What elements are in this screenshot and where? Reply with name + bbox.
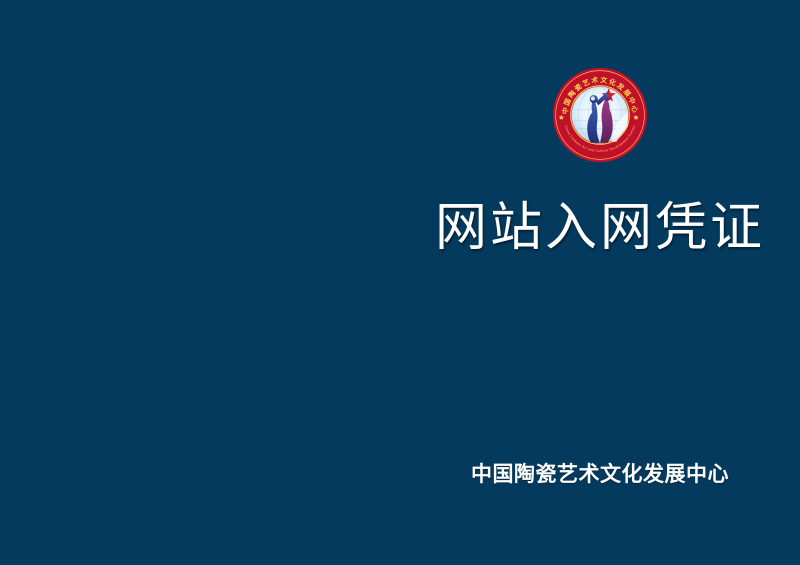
front-cover-panel: 中国陶瓷艺术文化发展中心 China Ceramic Art and Cultu… (400, 0, 800, 565)
certificate-cover-page: 中国陶瓷艺术文化发展中心 China Ceramic Art and Cultu… (0, 0, 800, 565)
certificate-title: 网站入网凭证 (400, 200, 800, 258)
issuing-organization-name: 中国陶瓷艺术文化发展中心 (400, 458, 800, 488)
organization-seal-logo: 中国陶瓷艺术文化发展中心 China Ceramic Art and Cultu… (552, 67, 648, 163)
seal-icon: 中国陶瓷艺术文化发展中心 China Ceramic Art and Cultu… (552, 67, 648, 163)
